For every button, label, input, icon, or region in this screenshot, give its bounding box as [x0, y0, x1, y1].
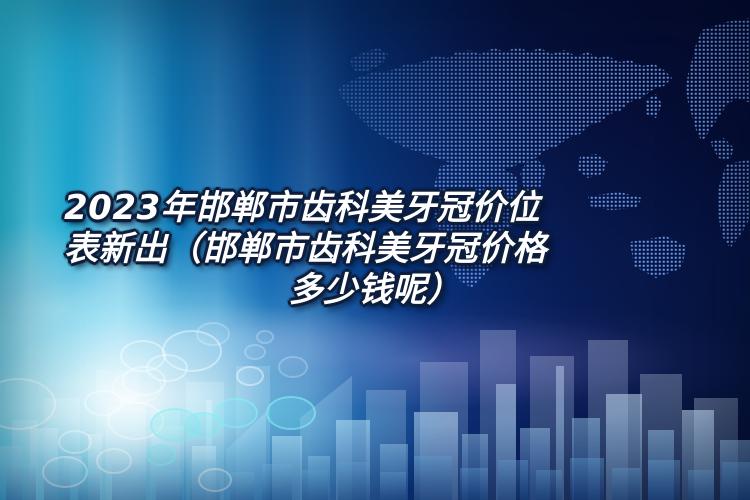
bokeh-circle	[266, 396, 316, 430]
bokeh-circle	[198, 468, 232, 492]
title-line-3: 多少钱呢）	[60, 270, 690, 311]
bokeh-circle	[96, 448, 132, 474]
bokeh-circle	[214, 398, 258, 428]
title-line-1: 2023年邯郸市齿科美牙冠价位	[64, 188, 690, 229]
bokeh-circle	[256, 330, 274, 344]
bokeh-circle	[58, 430, 92, 454]
bokeh-circle	[236, 366, 264, 386]
bokeh-circle	[84, 390, 122, 416]
bokeh-circle	[42, 456, 88, 488]
bokeh-circle	[146, 444, 176, 466]
poster-canvas: 2023年邯郸市齿科美牙冠价位 表新出（邯郸市齿科美牙冠价格 多少钱呢）	[0, 0, 750, 500]
page-title: 2023年邯郸市齿科美牙冠价位 表新出（邯郸市齿科美牙冠价格 多少钱呢）	[60, 188, 690, 311]
bokeh-circle	[0, 378, 56, 430]
bokeh-circle	[244, 344, 266, 360]
title-line-2: 表新出（邯郸市齿科美牙冠价格	[64, 229, 690, 270]
bokeh-circle	[278, 356, 308, 378]
bokeh-circle	[196, 322, 230, 346]
